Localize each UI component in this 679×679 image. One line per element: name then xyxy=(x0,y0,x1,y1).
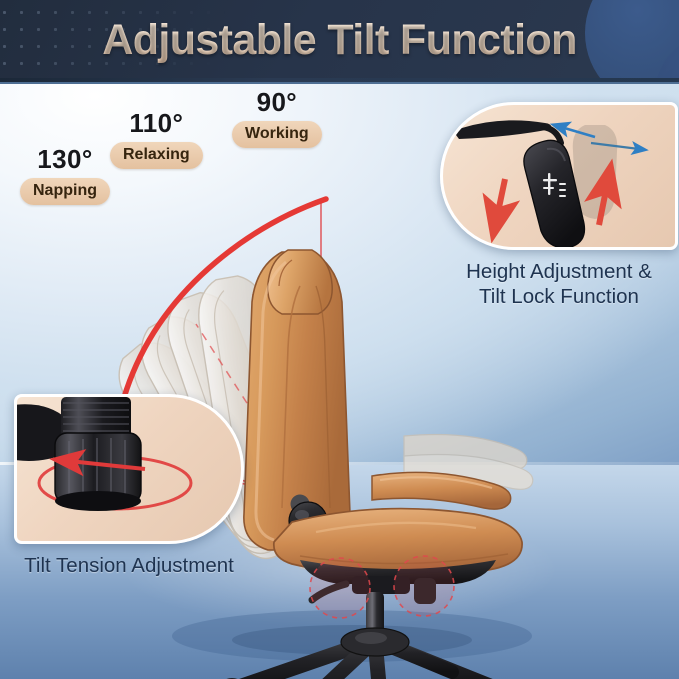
page-title: Adjustable Tilt Function xyxy=(0,0,679,84)
angle-mode-badge: Relaxing xyxy=(110,142,203,169)
angle-mode-badge: Napping xyxy=(20,178,110,205)
angle-degrees: 90° xyxy=(232,89,322,116)
inset-image-frame xyxy=(440,102,678,250)
angle-degrees: 110° xyxy=(110,110,203,137)
angle-mode-badge: Working xyxy=(232,121,322,148)
angle-label-relaxing: 110° Relaxing xyxy=(110,110,203,169)
angle-degrees: 130° xyxy=(20,146,110,173)
angle-label-napping: 130° Napping xyxy=(20,146,110,205)
inset-image-frame xyxy=(14,394,244,544)
arrow-height-down xyxy=(497,179,505,217)
inset-caption: Height Adjustment & Tilt Lock Function xyxy=(440,259,678,309)
inset-caption-line1: Tilt Tension Adjustment xyxy=(14,553,244,578)
knob-illustration xyxy=(17,397,241,541)
product-scene: 130° Napping 110° Relaxing 90° Working xyxy=(0,84,679,679)
inset-caption-line2: Tilt Lock Function xyxy=(440,284,678,309)
inset-caption-line1: Height Adjustment & xyxy=(440,259,678,284)
page-header: Adjustable Tilt Function xyxy=(0,0,679,84)
angle-label-working: 90° Working xyxy=(232,89,322,148)
headrest xyxy=(268,250,332,314)
inset-caption: Tilt Tension Adjustment xyxy=(14,553,244,578)
inset-tilt-tension: Tilt Tension Adjustment xyxy=(14,394,244,578)
lever-illustration xyxy=(443,105,675,247)
seat-edge xyxy=(453,120,551,139)
inset-height-tilt-lock: Height Adjustment & Tilt Lock Function xyxy=(440,102,678,309)
